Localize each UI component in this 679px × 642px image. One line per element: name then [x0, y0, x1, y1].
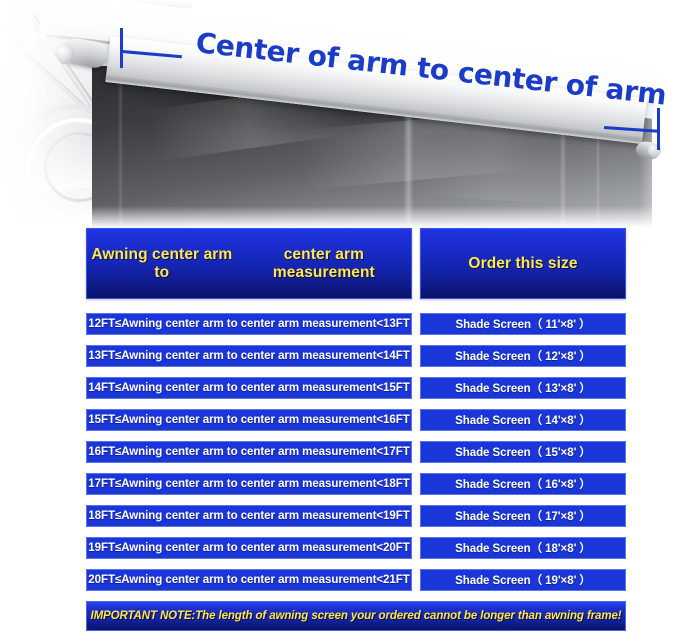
cell-order-size: Shade Screen（ 11'×8' ）: [420, 313, 626, 335]
table-row: 12FT≤Awning center arm to center arm mea…: [0, 313, 679, 335]
cell-order-size: Shade Screen（ 15'×8' ）: [420, 441, 626, 463]
table-row: 15FT≤Awning center arm to center arm mea…: [0, 409, 679, 431]
cell-order-size: Shade Screen（ 16'×8' ）: [420, 473, 626, 495]
photo-fade-left: [0, 0, 90, 232]
important-note-text: IMPORTANT NOTE:The length of awning scre…: [86, 601, 626, 631]
cell-order-size: Shade Screen（ 13'×8' ）: [420, 377, 626, 399]
table-row: 16FT≤Awning center arm to center arm mea…: [0, 441, 679, 463]
awning-product-photo: Center of arm to center of arm: [0, 0, 679, 232]
cell-measurement: 19FT≤Awning center arm to center arm mea…: [86, 537, 412, 559]
important-note-row: IMPORTANT NOTE:The length of awning scre…: [0, 601, 679, 631]
size-chart-table: Awning center arm to center arm measurem…: [0, 228, 679, 641]
table-row: 20FT≤Awning center arm to center arm mea…: [0, 569, 679, 591]
table-row: 13FT≤Awning center arm to center arm mea…: [0, 345, 679, 367]
table-row: 17FT≤Awning center arm to center arm mea…: [0, 473, 679, 495]
cell-order-size: Shade Screen（ 14'×8' ）: [420, 409, 626, 431]
cell-measurement: 15FT≤Awning center arm to center arm mea…: [86, 409, 412, 431]
table-row: 14FT≤Awning center arm to center arm mea…: [0, 377, 679, 399]
measure-tick-left: [120, 28, 123, 68]
cell-measurement: 17FT≤Awning center arm to center arm mea…: [86, 473, 412, 495]
photo-fade-top: [0, 0, 679, 16]
cell-order-size: Shade Screen（ 12'×8' ）: [420, 345, 626, 367]
cell-measurement: 14FT≤Awning center arm to center arm mea…: [86, 377, 412, 399]
cell-order-size: Shade Screen（ 19'×8' ）: [420, 569, 626, 591]
table-header-row: Awning center arm to center arm measurem…: [0, 228, 679, 299]
cell-measurement: 12FT≤Awning center arm to center arm mea…: [86, 313, 412, 335]
header-measurement-line1: Awning center arm to: [87, 246, 237, 281]
cell-order-size: Shade Screen（ 18'×8' ）: [420, 537, 626, 559]
cell-measurement: 16FT≤Awning center arm to center arm mea…: [86, 441, 412, 463]
cell-measurement: 18FT≤Awning center arm to center arm mea…: [86, 505, 412, 527]
header-cell-measurement: Awning center arm to center arm measurem…: [86, 228, 412, 299]
table-row: 19FT≤Awning center arm to center arm mea…: [0, 537, 679, 559]
header-cell-order-size: Order this size: [420, 228, 626, 299]
header-measurement-line2: center arm measurement: [237, 246, 411, 281]
cell-order-size: Shade Screen（ 17'×8' ）: [420, 505, 626, 527]
table-row: 18FT≤Awning center arm to center arm mea…: [0, 505, 679, 527]
cell-measurement: 13FT≤Awning center arm to center arm mea…: [86, 345, 412, 367]
cell-measurement: 20FT≤Awning center arm to center arm mea…: [86, 569, 412, 591]
